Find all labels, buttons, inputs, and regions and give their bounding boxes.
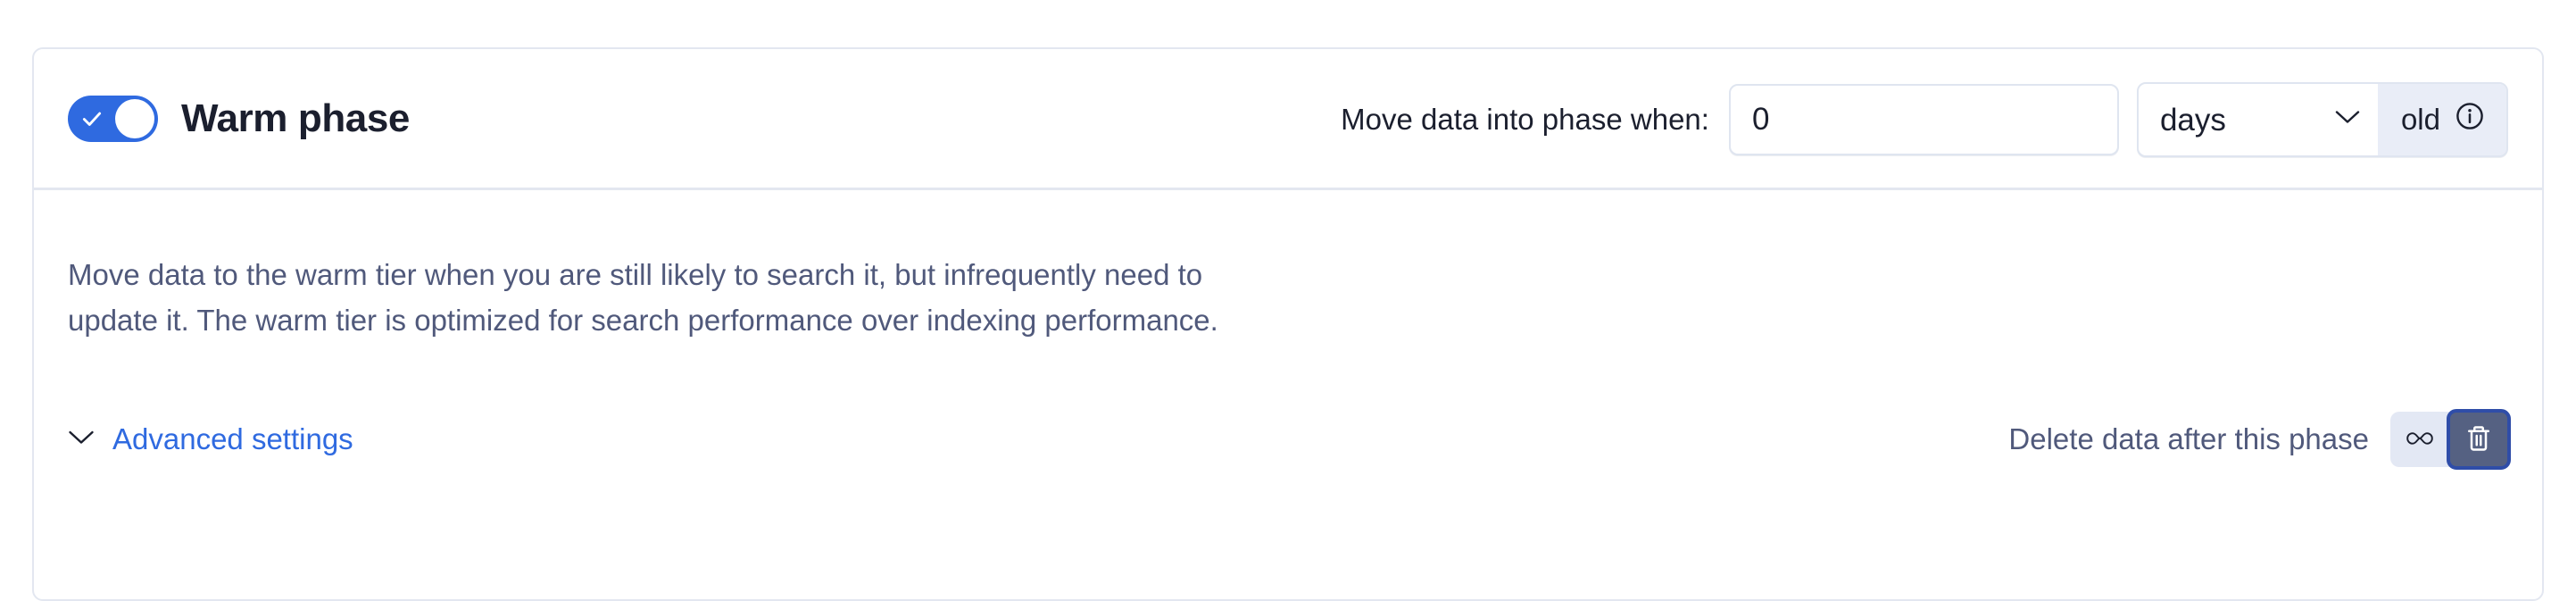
warm-phase-card: Warm phase Move data into phase when: da…	[32, 47, 2544, 601]
phase-timing-controls: Move data into phase when: days old	[1341, 49, 2508, 190]
advanced-settings-toggle[interactable]: Advanced settings	[68, 422, 353, 456]
move-data-label: Move data into phase when:	[1341, 103, 1709, 137]
page-title: Warm phase	[181, 96, 410, 141]
warm-phase-header: Warm phase Move data into phase when: da…	[34, 49, 2542, 190]
warm-phase-enabled-toggle[interactable]	[68, 96, 158, 142]
advanced-settings-label: Advanced settings	[112, 422, 353, 456]
phase-footer: Advanced settings Delete data after this…	[68, 412, 2508, 467]
infinity-icon	[2403, 428, 2437, 452]
keep-data-forever-button[interactable]	[2390, 412, 2449, 467]
chevron-down-icon	[68, 430, 95, 449]
delete-after-phase-button-group	[2390, 412, 2508, 467]
unit-select[interactable]: days	[2139, 103, 2378, 138]
trash-icon	[2465, 423, 2492, 456]
toggle-knob	[115, 99, 154, 138]
unit-append-old: old	[2378, 84, 2506, 155]
warm-phase-body: Move data to the warm tier when you are …	[34, 190, 2542, 597]
phase-description: Move data to the warm tier when you are …	[68, 252, 1282, 343]
unit-append-label: old	[2401, 103, 2440, 137]
delete-after-phase-control: Delete data after this phase	[2008, 412, 2508, 467]
min-age-unit-group: days old	[2137, 82, 2508, 157]
phase-header-left: Warm phase	[34, 96, 410, 142]
min-age-input[interactable]	[1729, 84, 2119, 155]
unit-select-wrapper: days	[2139, 84, 2378, 155]
delete-data-button[interactable]	[2449, 412, 2508, 467]
info-circle-icon[interactable]	[2455, 101, 2485, 138]
delete-after-phase-label: Delete data after this phase	[2008, 422, 2369, 456]
check-icon	[80, 107, 104, 130]
